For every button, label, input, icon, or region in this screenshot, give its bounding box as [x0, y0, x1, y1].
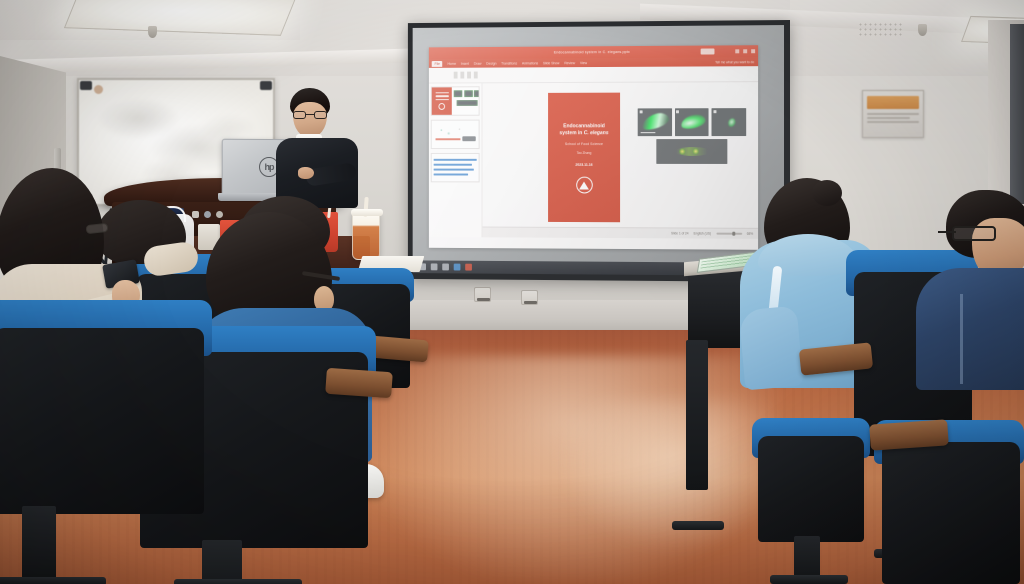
scale-bar	[641, 132, 656, 133]
presenter	[276, 88, 360, 208]
notice-banner	[867, 96, 919, 109]
browser-icon[interactable]	[454, 264, 461, 271]
whiteboard-bracket-icon	[260, 81, 272, 90]
presenter-hand	[298, 167, 314, 179]
thumbnail-heading-bar	[436, 138, 461, 140]
ribbon-search-box[interactable]: Tell me what you want to do	[715, 60, 754, 64]
powerpoint-icon[interactable]	[465, 264, 472, 271]
micrograph-panel-d	[656, 139, 727, 164]
minimize-icon[interactable]	[735, 49, 739, 53]
hoodie-arm	[739, 306, 804, 391]
auditorium-chair[interactable]	[752, 418, 872, 584]
powerpoint-window[interactable]: Endocannabinoid system in C. elegans.ppt…	[429, 45, 758, 250]
fluorescent-worm-icon	[679, 113, 706, 131]
slide-indicator: Slide 1 of 24	[671, 231, 688, 235]
chair-backrest	[0, 328, 204, 514]
wall-socket-left[interactable]	[474, 287, 491, 302]
slide-title-line1: Endocannabinoid	[563, 123, 605, 129]
chair-leg	[22, 506, 56, 584]
whiteboard-bracket-icon	[80, 81, 92, 90]
file-explorer-icon[interactable]	[442, 264, 449, 271]
presenter-face	[293, 102, 327, 138]
thumbnail-wide-micrograph	[457, 100, 478, 106]
chair-backrest	[758, 436, 864, 542]
ribbon-tab-view[interactable]: View	[580, 61, 587, 65]
thumbnail-micrographs	[454, 90, 480, 97]
maximize-icon[interactable]	[743, 49, 747, 53]
powerpoint-statusbar: Slide 1 of 24 English (US) 68%	[482, 227, 758, 239]
thumbnail-diagram	[434, 123, 477, 147]
right-corner-shadow	[1010, 24, 1024, 204]
chair-foot	[0, 577, 106, 584]
ribbon-tab-insert[interactable]: Insert	[461, 61, 469, 65]
thumbnail-bar-chart	[434, 159, 477, 176]
jacket-seam	[960, 294, 963, 384]
chair-armrest[interactable]	[869, 419, 949, 450]
chair-backrest	[882, 442, 1020, 584]
chair-armrest[interactable]	[325, 368, 393, 399]
slide-thumbnail-panel[interactable]	[429, 83, 483, 237]
lecture-room-photo: Endocannabinoid system in C. elegans.ppt…	[0, 0, 1024, 584]
auditorium-chair-leg	[678, 340, 718, 530]
university-emblem-icon	[576, 177, 593, 194]
slide-title: Endocannabinoid system in C. elegans	[550, 123, 618, 137]
close-icon[interactable]	[751, 49, 755, 53]
ribbon-tab-review[interactable]: Review	[564, 61, 575, 65]
window-controls[interactable]	[735, 49, 755, 53]
sprinkler-head-left-icon	[148, 26, 157, 38]
thumbnail-title-card	[432, 87, 452, 114]
whiteboard-magnet-icon[interactable]	[94, 85, 103, 94]
ribbon-toolbar[interactable]	[429, 66, 758, 83]
sprinkler-head-right-icon	[918, 24, 927, 36]
save-button[interactable]	[701, 48, 715, 54]
slide-affiliation: School of Food Science	[565, 142, 603, 146]
glasses-icon	[952, 226, 996, 241]
panel-label-a	[639, 110, 642, 113]
ceiling-vent-icon	[858, 22, 904, 36]
slide-date: 2023.11.16	[575, 163, 592, 167]
slide-thumbnail-2[interactable]	[431, 120, 480, 149]
ribbon-tab-transitions[interactable]: Transitions	[501, 61, 517, 65]
slide-canvas[interactable]: Endocannabinoid system in C. elegans Sch…	[482, 82, 758, 239]
thumbnail-callout-box	[462, 136, 475, 141]
zoom-slider[interactable]	[716, 233, 742, 235]
glasses-icon	[292, 111, 328, 120]
denim-jacket	[916, 268, 1024, 390]
fluorescent-worm-icon	[640, 111, 670, 132]
ribbon-tab-slideshow[interactable]: Slide Show	[543, 61, 559, 65]
slide-micrograph-grid	[638, 108, 746, 164]
hair-bun	[812, 180, 842, 206]
glasses-icon	[86, 223, 109, 234]
wall-notice-board	[862, 90, 924, 138]
auditorium-chair[interactable]	[874, 420, 1024, 584]
chair-leg	[686, 340, 708, 490]
panel-label-b	[676, 110, 679, 113]
ribbon-tab-animations[interactable]: Animations	[522, 61, 538, 65]
slide-presenter-name: Tao Zhang	[577, 151, 592, 155]
slide-title-species: C. elegans	[584, 130, 609, 136]
ribbon-tab-file[interactable]: File	[432, 60, 443, 66]
ribbon-tab-design[interactable]: Design	[486, 61, 496, 65]
wall-socket-right[interactable]	[521, 290, 538, 305]
slide-thumbnail-3[interactable]	[431, 153, 480, 182]
audience-right-denim	[916, 190, 1024, 390]
projection-screen[interactable]: Endocannabinoid system in C. elegans.ppt…	[408, 20, 790, 282]
ribbon-tab-draw[interactable]: Draw	[474, 61, 482, 65]
panel-label-c	[713, 110, 716, 113]
slide-title-line2-prefix: system in	[560, 130, 584, 136]
slide-thumbnail-1[interactable]	[431, 86, 480, 116]
notice-text-lines	[867, 113, 919, 123]
slide-title-card: Endocannabinoid system in C. elegans Sch…	[548, 93, 620, 223]
auditorium-chair[interactable]	[0, 300, 216, 584]
fluorescent-neuron-icon	[727, 117, 737, 128]
chair-foot	[672, 521, 724, 530]
screen-surface: Endocannabinoid system in C. elegans.ppt…	[413, 25, 784, 276]
micrograph-panel-c	[712, 108, 746, 136]
chair-foot	[770, 575, 848, 584]
micrograph-panel-b	[675, 108, 709, 136]
powerpoint-body: Endocannabinoid system in C. elegans Sch…	[429, 82, 758, 239]
search-icon[interactable]	[431, 263, 438, 270]
micrograph-row-top	[638, 108, 746, 136]
micrograph-panel-a	[638, 108, 672, 136]
language-indicator: English (US)	[693, 232, 711, 236]
fluorescent-neuron-pair-icon	[674, 147, 711, 156]
thumbnail-logo-icon	[438, 103, 445, 110]
ribbon-tab-home[interactable]: Home	[447, 61, 456, 65]
document-title: Endocannabinoid system in C. elegans.ppt…	[554, 50, 630, 54]
